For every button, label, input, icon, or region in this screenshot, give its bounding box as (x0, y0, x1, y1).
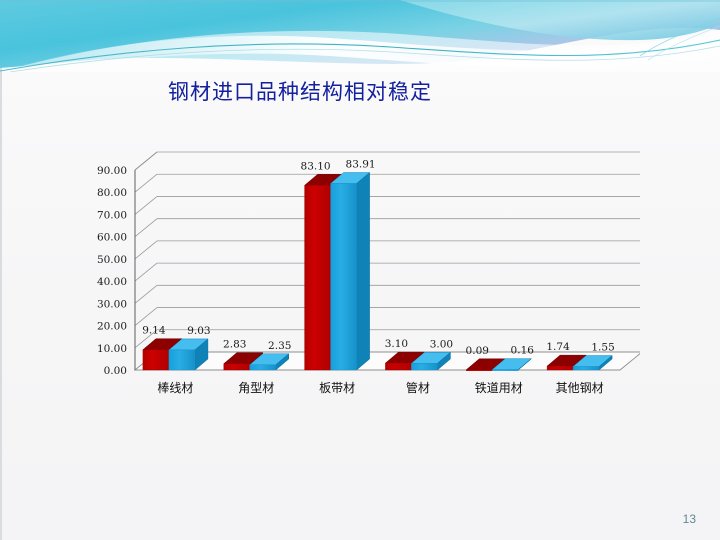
header-wave-decoration (0, 0, 720, 72)
y-axis-tick-label: 70.00 (97, 209, 127, 221)
y-axis-tick-label: 80.00 (97, 187, 127, 199)
x-axis-category-label: 板带材 (319, 381, 355, 395)
y-axis-tick-label: 40.00 (97, 276, 127, 288)
chart-gridlines (135, 152, 640, 348)
y-axis-tick-label: 0.00 (104, 365, 127, 377)
x-axis-category-label: 棒线材 (157, 381, 193, 395)
y-axis-tick-labels: 0.0010.0020.0030.0040.0050.0060.0070.008… (97, 165, 127, 377)
x-axis-category-label: 管材 (406, 380, 430, 395)
chart-bars (143, 173, 612, 371)
x-axis-category-labels: 棒线材角型材板带材管材铁道用材其他钢材 (157, 380, 603, 395)
bar-chart: 0.0010.0020.0030.0040.0050.0060.0070.008… (95, 130, 640, 398)
bar-value-label: 1.55 (591, 342, 614, 354)
page-title: 钢材进口品种结构相对稳定 (168, 76, 432, 106)
y-axis-tick-label: 60.00 (97, 232, 127, 244)
page-number: 13 (683, 512, 696, 526)
slide-left-edge (0, 0, 2, 540)
y-axis-tick-label: 20.00 (97, 321, 127, 333)
bar-value-labels: 9.149.032.832.3583.1083.913.103.000.090.… (142, 159, 615, 357)
bar-value-label: 0.16 (511, 345, 535, 357)
bar-value-label: 83.10 (301, 160, 331, 172)
x-axis-category-label: 其他钢材 (556, 381, 604, 395)
slide: 钢材进口品种结构相对稳定 0.0010.0020.0030.0040.005 (0, 0, 720, 540)
bar-value-label: 2.35 (268, 340, 291, 352)
x-axis-category-label: 铁道用材 (475, 381, 523, 395)
chart-axis (135, 152, 157, 370)
y-axis-tick-label: 30.00 (97, 298, 127, 310)
bar-value-label: 3.00 (430, 338, 453, 350)
bar-value-label: 2.83 (223, 339, 246, 351)
bar-value-label: 3.10 (385, 338, 408, 350)
bar-3d (331, 173, 370, 370)
y-axis-tick-label: 10.00 (97, 343, 127, 355)
bar-value-label: 83.91 (346, 159, 376, 171)
bar-value-label: 1.74 (546, 341, 570, 353)
bar-value-label: 9.14 (142, 325, 166, 337)
x-axis-category-label: 角型材 (238, 381, 274, 395)
bar-value-label: 0.09 (466, 345, 489, 357)
bar-value-label: 9.03 (187, 325, 210, 337)
y-axis-tick-label: 50.00 (97, 254, 127, 266)
y-axis-tick-label: 90.00 (97, 165, 127, 177)
chart-canvas: 0.0010.0020.0030.0040.0050.0060.0070.008… (95, 130, 640, 398)
